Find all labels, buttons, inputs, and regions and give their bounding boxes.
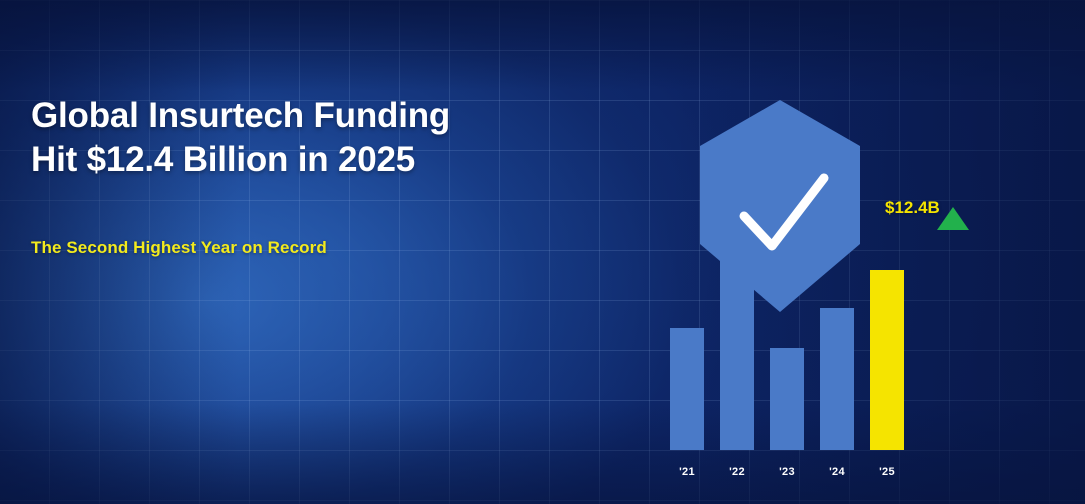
- bar-2024[interactable]: [820, 308, 854, 450]
- value-callout-label: $12.4B: [885, 198, 940, 218]
- infographic-root: Global Insurtech Funding Hit $12.4 Billi…: [0, 0, 1085, 504]
- x-tick-2025: '25: [870, 466, 904, 478]
- bar-2025[interactable]: [870, 270, 904, 450]
- page-title: Global Insurtech Funding Hit $12.4 Billi…: [31, 94, 571, 182]
- x-tick-2022: '22: [720, 466, 754, 478]
- bar-2023[interactable]: [770, 348, 804, 450]
- page-subtitle: The Second Highest Year on Record: [31, 238, 327, 258]
- funding-bar-chart: '21 '22 '23 '24 '25 $12.4B: [640, 80, 1040, 490]
- x-tick-2023: '23: [770, 466, 804, 478]
- x-tick-2021: '21: [670, 466, 704, 478]
- x-tick-2024: '24: [820, 466, 854, 478]
- page-title-line-2: Hit $12.4 Billion in 2025: [31, 138, 571, 182]
- bars-layer: '21 '22 '23 '24 '25: [640, 80, 1040, 490]
- page-title-line-1: Global Insurtech Funding: [31, 94, 571, 138]
- up-triangle-icon: [937, 207, 969, 230]
- bar-2022[interactable]: [720, 240, 754, 450]
- bar-2021[interactable]: [670, 328, 704, 450]
